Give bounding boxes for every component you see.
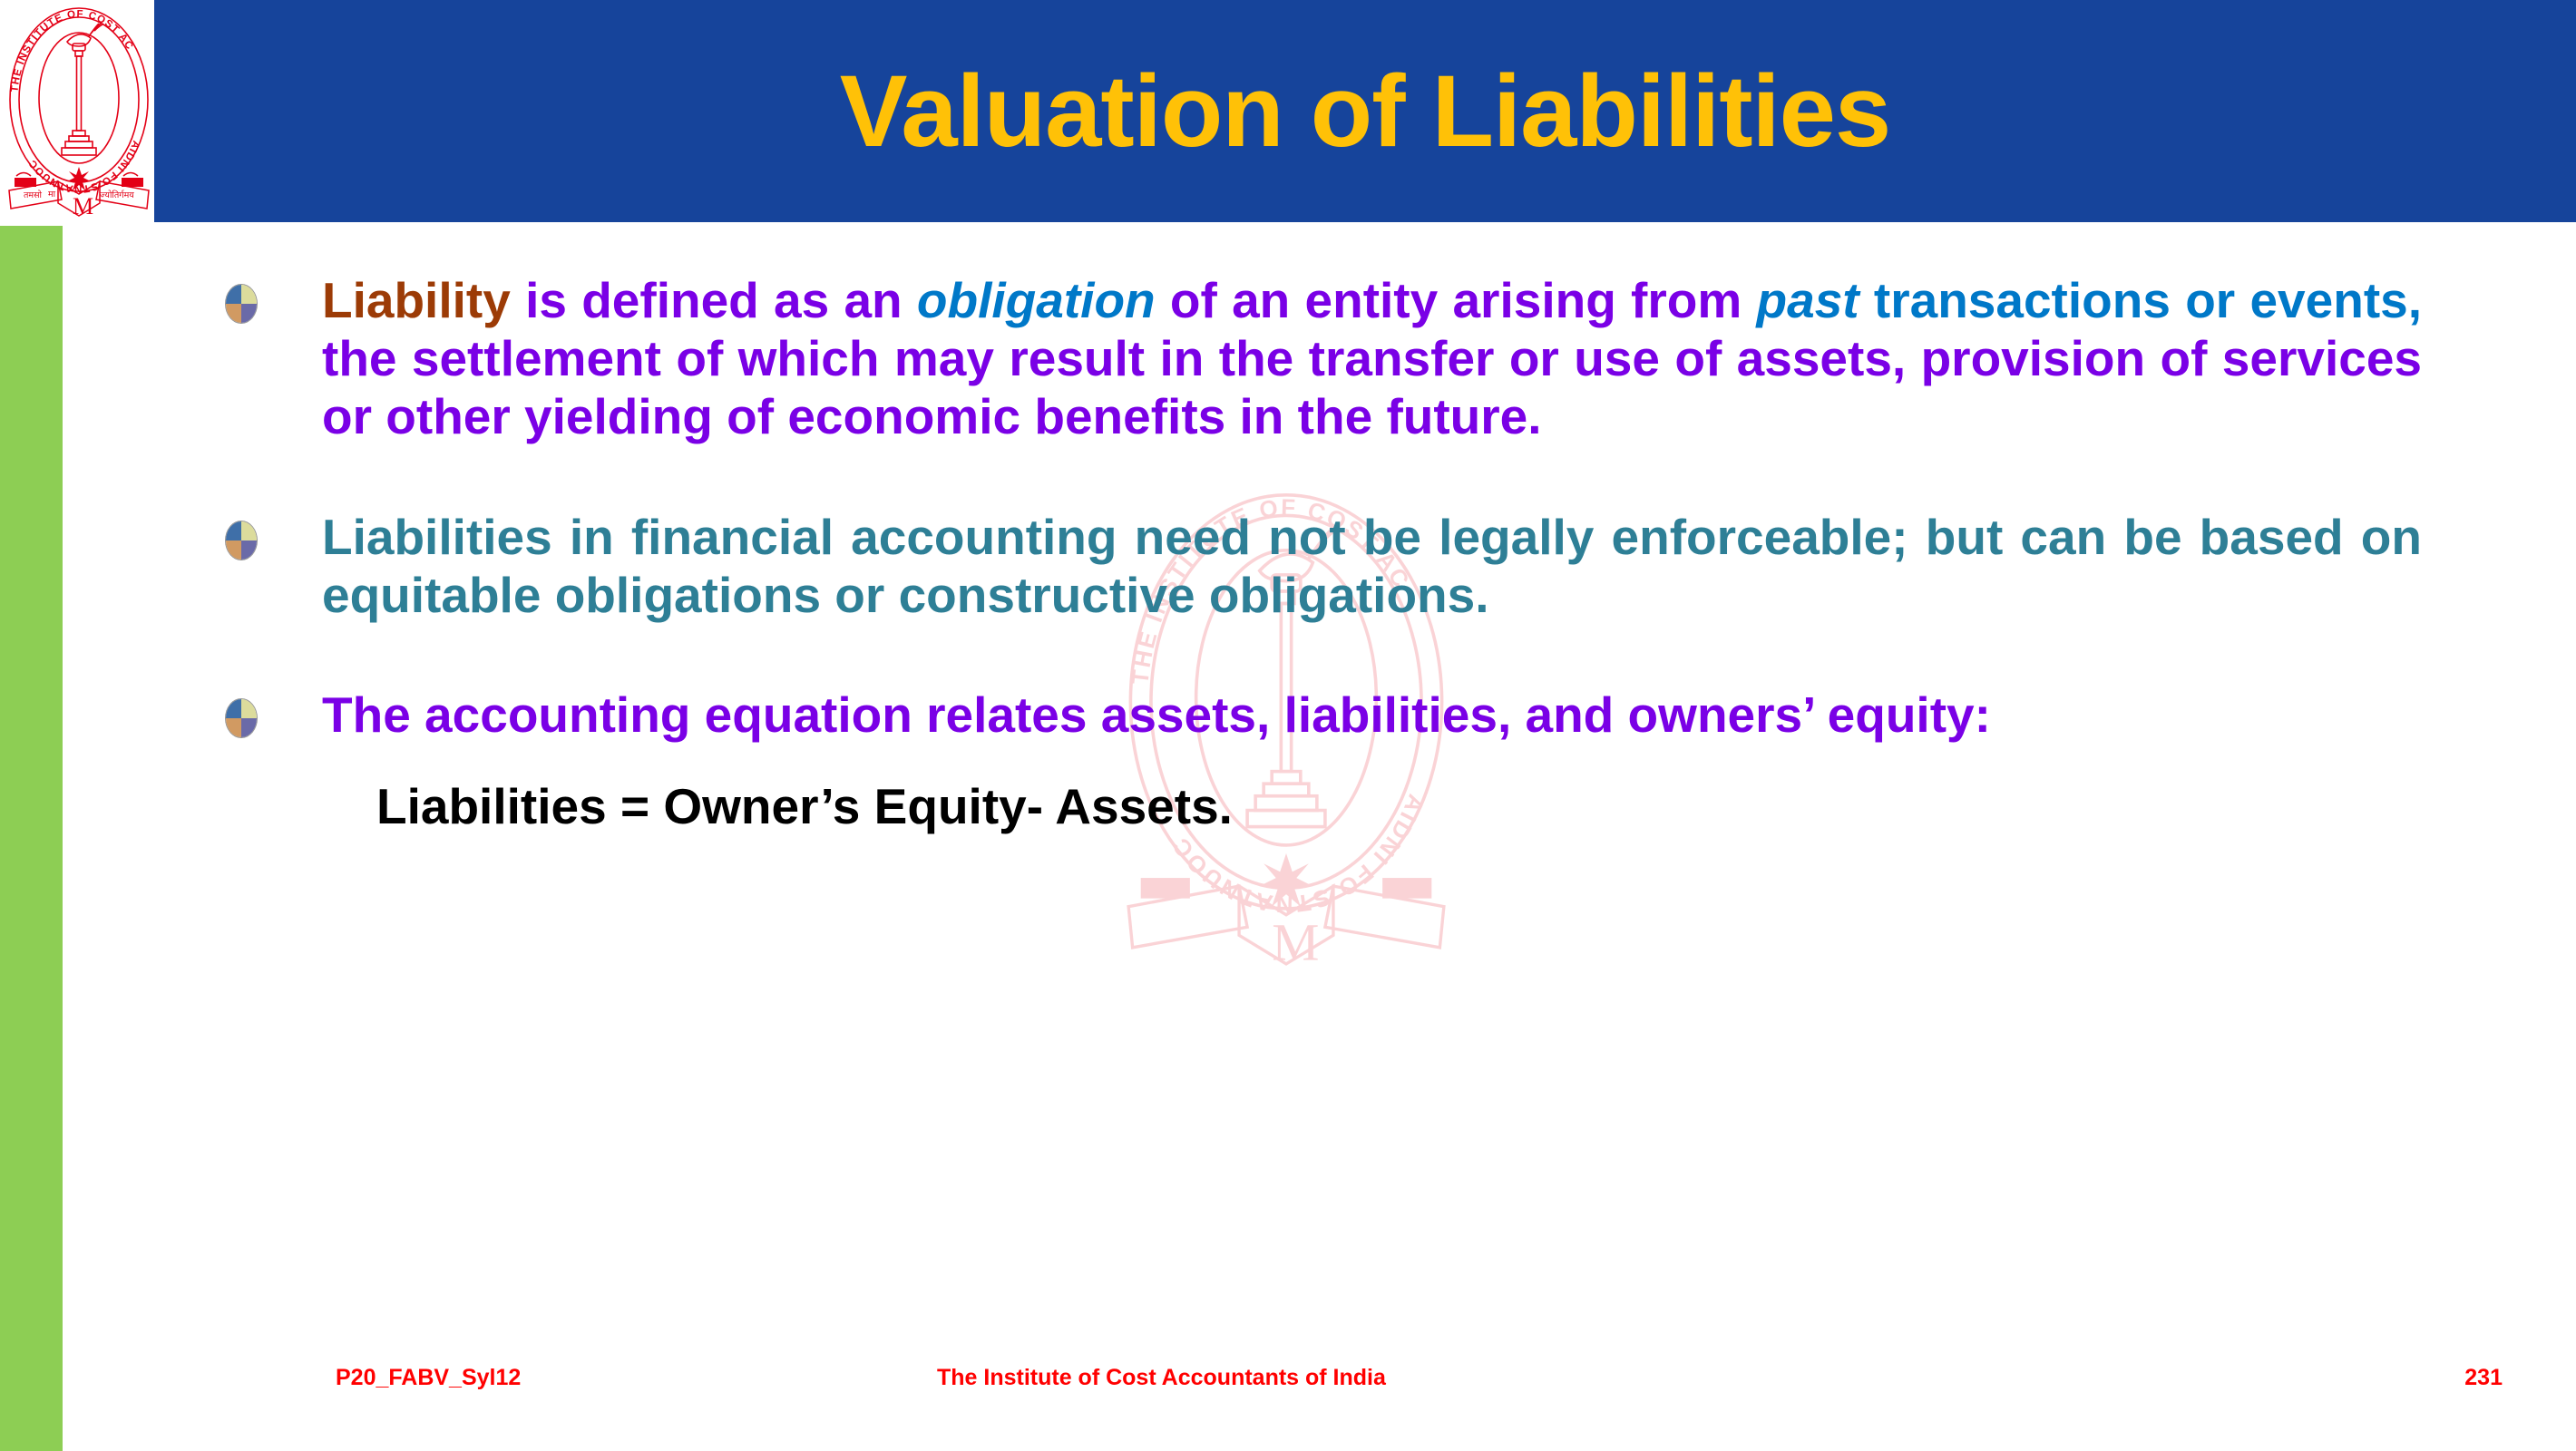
svg-text:THE INSTITUTE OF COST AC: THE INSTITUTE OF COST AC <box>9 9 135 93</box>
text-run: is defined as an <box>525 272 917 328</box>
footer-subject-code: P20_FABV_Syl12 <box>336 1365 521 1391</box>
logo-motto-mid: मा <box>48 190 56 200</box>
bullet-liability-definition: Liability is defined as an obligation of… <box>218 272 2422 445</box>
logo-motto-right: ज्योतिर्गमय <box>100 190 134 200</box>
svg-text:M: M <box>1272 912 1319 971</box>
sphere-bullet-icon <box>226 285 257 323</box>
sphere-bullet-icon <box>226 521 257 560</box>
text-run: transactions or events, <box>1874 272 2422 328</box>
text-run <box>1859 272 1874 328</box>
page-title: Valuation of Liabilities <box>154 0 2576 222</box>
text-run: Liabilities in financial accounting need… <box>322 509 2422 623</box>
text-run: of an entity arising from <box>1156 272 1757 328</box>
bullet-text: The accounting equation relates assets, … <box>322 687 2422 745</box>
left-accent-band <box>0 226 63 1451</box>
text-run: Liability <box>322 272 525 328</box>
text-run: past <box>1757 272 1859 328</box>
accounting-equation-formula: Liabilities = Owner’s Equity- Assets. <box>376 777 2422 835</box>
bullet-accounting-equation: The accounting equation relates assets, … <box>218 687 2422 745</box>
text-run: the settlement of which may result in th… <box>322 330 2422 444</box>
slide-body: Liability is defined as an obligation of… <box>218 272 2422 835</box>
logo-motto-left: तमसो <box>24 190 43 200</box>
text-run: obligation <box>917 272 1156 328</box>
footer: P20_FABV_Syl12 The Institute of Cost Acc… <box>0 1365 2576 1408</box>
spacer <box>218 445 2422 509</box>
spacer <box>218 625 2422 687</box>
bullet-legal-enforceability: Liabilities in financial accounting need… <box>218 509 2422 625</box>
text-run: The accounting equation relates assets, … <box>322 687 1991 743</box>
sphere-bullet-icon <box>226 699 257 737</box>
bullet-text: Liabilities in financial accounting need… <box>322 509 2422 625</box>
bullet-text: Liability is defined as an obligation of… <box>322 272 2422 445</box>
institute-logo: THE INSTITUTE OF COST AC AIDNI FO STNATN… <box>5 2 152 227</box>
footer-page-number: 231 <box>2464 1365 2503 1391</box>
logo-monogram: M <box>73 193 93 219</box>
footer-institute-name: The Institute of Cost Accountants of Ind… <box>937 1365 1386 1391</box>
